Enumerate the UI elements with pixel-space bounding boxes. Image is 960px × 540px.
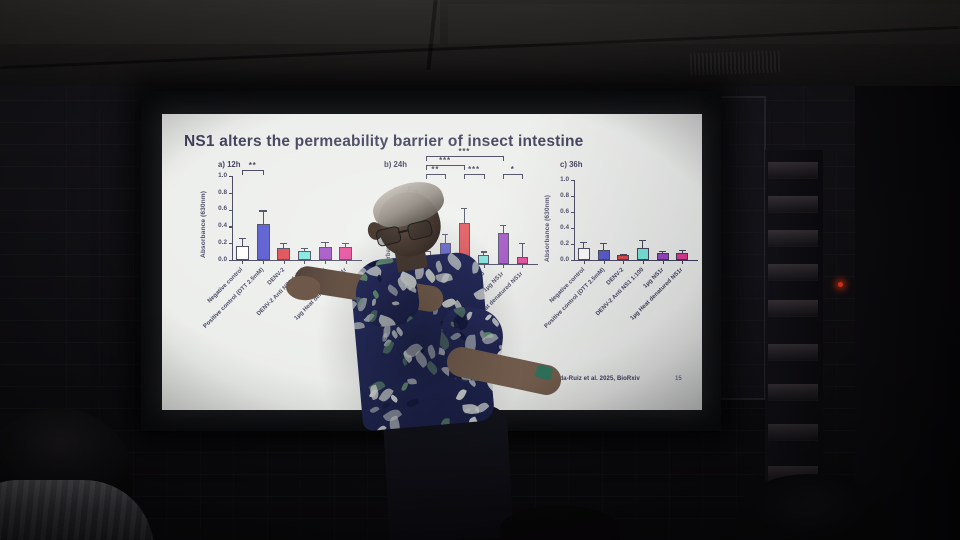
y-tick [229,176,232,177]
y-tick [571,228,574,229]
x-tick [682,261,683,264]
x-tick-label: DENV-2 [266,267,286,287]
x-tick [284,261,285,264]
error-bar-cap [239,238,246,239]
significance-stars: *** [468,166,480,174]
error-bar [242,238,243,246]
error-bar-cap [580,242,587,243]
significance-stars: *** [439,157,451,165]
x-axis [574,260,698,261]
significance-stars: ** [249,162,257,170]
significance-stars: ** [431,166,439,174]
bar [637,248,649,260]
x-tick [643,261,644,264]
panel-a-title: a) 12h [218,160,241,169]
room-ceiling [0,0,960,96]
wall-pillar [855,86,960,540]
error-bar-cap [259,210,266,211]
y-tick-label: 0.6 [209,206,227,212]
panel-a-ylabel: Absorbance (630nm) [200,191,207,258]
x-tick [604,261,605,264]
ceiling-vent-icon [690,50,781,75]
slide-title: NS1 alters the permeability barrier of i… [184,133,584,151]
presenter-left-sleeve [352,260,422,330]
slide-number: 15 [675,376,682,382]
bar [578,248,590,260]
error-bar-cap [679,250,686,251]
y-tick [229,210,232,211]
x-tick [663,261,664,264]
error-bar-cap [639,240,646,241]
y-tick [571,196,574,197]
bar [598,250,610,260]
y-tick [229,226,232,227]
y-tick-label: 0.8 [209,190,227,196]
presenter-figure [300,180,560,540]
error-bar [642,240,643,249]
y-tick [571,212,574,213]
y-tick-label: 0.4 [209,223,227,229]
error-bar [263,210,264,223]
bar [657,253,669,260]
panel-b-title: b) 24h [384,160,407,169]
y-tick [571,244,574,245]
y-axis [232,176,233,260]
error-bar-cap [600,243,607,244]
y-tick [571,180,574,181]
panel-c-title: c) 36h [560,160,583,169]
error-bar-cap [620,254,627,255]
x-tick [623,261,624,264]
bar [236,246,249,260]
y-tick-label: 1.0 [209,173,227,179]
y-axis [574,180,575,260]
significance-stars: *** [458,148,470,156]
presentation-photo: NS1 alters the permeability barrier of i… [0,0,960,540]
bar [676,253,688,260]
bar [257,224,270,260]
status-led-indicator [838,282,843,287]
bar [617,255,629,260]
x-tick [242,261,243,264]
x-tick [263,261,264,264]
y-tick [229,243,232,244]
panel-c-plot: 0.00.20.40.60.81.0Negative controlPositi… [574,180,692,260]
y-tick [571,260,574,261]
y-tick [229,260,232,261]
bar [277,248,290,260]
significance-stars: * [511,166,515,174]
x-tick [584,261,585,264]
error-bar-cap [659,251,666,252]
x-tick-label: Negative control [207,267,244,304]
y-tick-label: 0.0 [209,257,227,263]
error-bar-cap [280,243,287,244]
y-tick [229,193,232,194]
y-tick-label: 0.2 [209,240,227,246]
